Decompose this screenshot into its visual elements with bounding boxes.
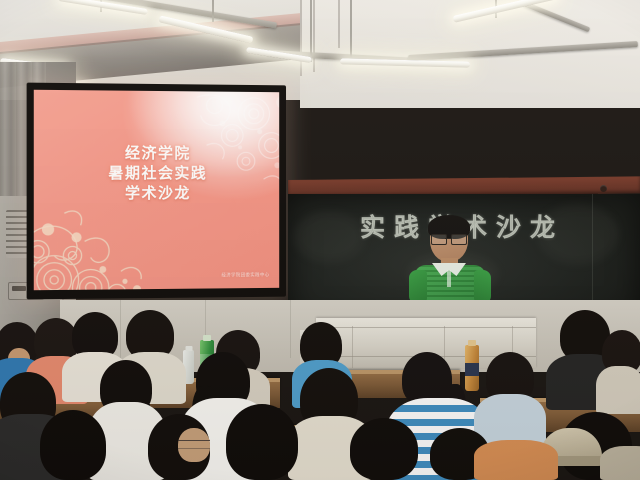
audience-torso bbox=[600, 446, 640, 480]
blackboard-screw-icon bbox=[600, 185, 607, 192]
light-hanger bbox=[212, 0, 214, 22]
wall-tile-seam bbox=[290, 300, 291, 358]
chalk-smudge bbox=[294, 212, 364, 262]
audience-head bbox=[226, 404, 298, 480]
wall-seam bbox=[338, 0, 340, 48]
glasses-icon bbox=[178, 440, 210, 449]
slide-ornament-bottom-left-icon bbox=[34, 193, 175, 290]
juice-bottle bbox=[465, 345, 479, 391]
slide-title: 经济学院 暑期社会实践 学术沙龙 bbox=[34, 142, 279, 203]
classroom-photo: 经济学院 暑期社会实践 学术沙龙 经济学院团委实践中心 实践学术沙龙 bbox=[0, 0, 640, 480]
wall-seam bbox=[313, 0, 315, 72]
speaker-sleeve-left bbox=[409, 270, 427, 304]
light-hanger bbox=[310, 0, 312, 62]
projection-screen: 经济学院 暑期社会实践 学术沙龙 经济学院团委实践中心 bbox=[27, 83, 286, 300]
audience-torso bbox=[596, 366, 640, 414]
ac-display-icon bbox=[12, 286, 26, 291]
slide-footer-credit: 经济学院团委实践中心 bbox=[221, 272, 269, 278]
slide-title-line-2: 暑期社会实践 bbox=[34, 163, 279, 184]
speaker-placket bbox=[447, 270, 451, 287]
speaker-sleeve-right bbox=[474, 270, 491, 304]
presentation-slide: 经济学院 暑期社会实践 学术沙龙 经济学院团委实践中心 bbox=[34, 90, 279, 290]
glasses-icon bbox=[431, 234, 467, 243]
light-hanger bbox=[350, 0, 352, 58]
audience-torso bbox=[474, 440, 558, 480]
audience-head bbox=[350, 418, 418, 480]
slide-title-line-1: 经济学院 bbox=[34, 142, 279, 163]
slide-title-line-3: 学术沙龙 bbox=[34, 183, 279, 203]
wall-seam bbox=[300, 0, 302, 76]
audience-head bbox=[40, 410, 106, 480]
wall-tile-seam bbox=[120, 300, 121, 360]
